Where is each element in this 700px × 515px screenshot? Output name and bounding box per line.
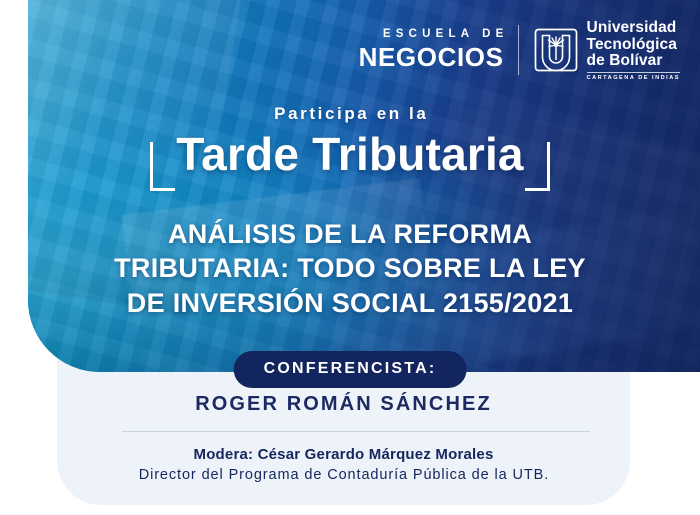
brand-divider [518, 25, 519, 75]
university-logo: Universidad Tecnológica de Bolívar CARTA… [533, 20, 680, 81]
hero-copy: Participa en la Tarde Tributaria ANÁLISI… [0, 104, 700, 320]
brand-header: ESCUELA DE NEGOCIOS [359, 20, 680, 81]
bracket-right-decoration [525, 142, 550, 191]
event-kicker: Participa en la [0, 104, 700, 124]
event-headline: ANÁLISIS DE LA REFORMA TRIBUTARIA: TODO … [0, 217, 700, 321]
section-divider [122, 431, 590, 432]
utb-palm-tree-icon [533, 27, 579, 73]
moderator-role: Director del Programa de Contaduría Públ… [57, 467, 631, 483]
university-wordmark: Universidad Tecnológica de Bolívar CARTA… [587, 20, 680, 81]
moderator-block: Modera: César Gerardo Márquez Morales Di… [57, 446, 630, 483]
business-school-logo: ESCUELA DE NEGOCIOS [359, 29, 504, 71]
headline-line-3: DE INVERSIÓN SOCIAL 2155/2021 [0, 286, 700, 321]
headline-line-2: TRIBUTARIA: TODO SOBRE LA LEY [0, 251, 700, 286]
university-line1: Universidad [587, 20, 680, 37]
event-title: Tarde Tributaria [176, 130, 523, 179]
flyer-poster: ESCUELA DE NEGOCIOS [0, 0, 700, 515]
moderator-name: Modera: César Gerardo Márquez Morales [57, 446, 630, 463]
conferencista-badge: CONFERENCISTA: [234, 351, 467, 388]
headline-line-1: ANÁLISIS DE LA REFORMA [0, 217, 700, 252]
event-title-block: Tarde Tributaria [150, 130, 549, 191]
bracket-left-decoration [150, 142, 175, 191]
university-rule [587, 72, 680, 73]
university-line3: de Bolívar [587, 53, 680, 70]
university-tagline: CARTAGENA DE INDIAS [587, 75, 680, 81]
speaker-name: ROGER ROMÁN SÁNCHEZ [57, 393, 630, 416]
school-name-line1: ESCUELA DE [359, 29, 509, 41]
university-line2: Tecnológica [587, 37, 680, 54]
school-name-line2: NEGOCIOS [359, 44, 504, 71]
